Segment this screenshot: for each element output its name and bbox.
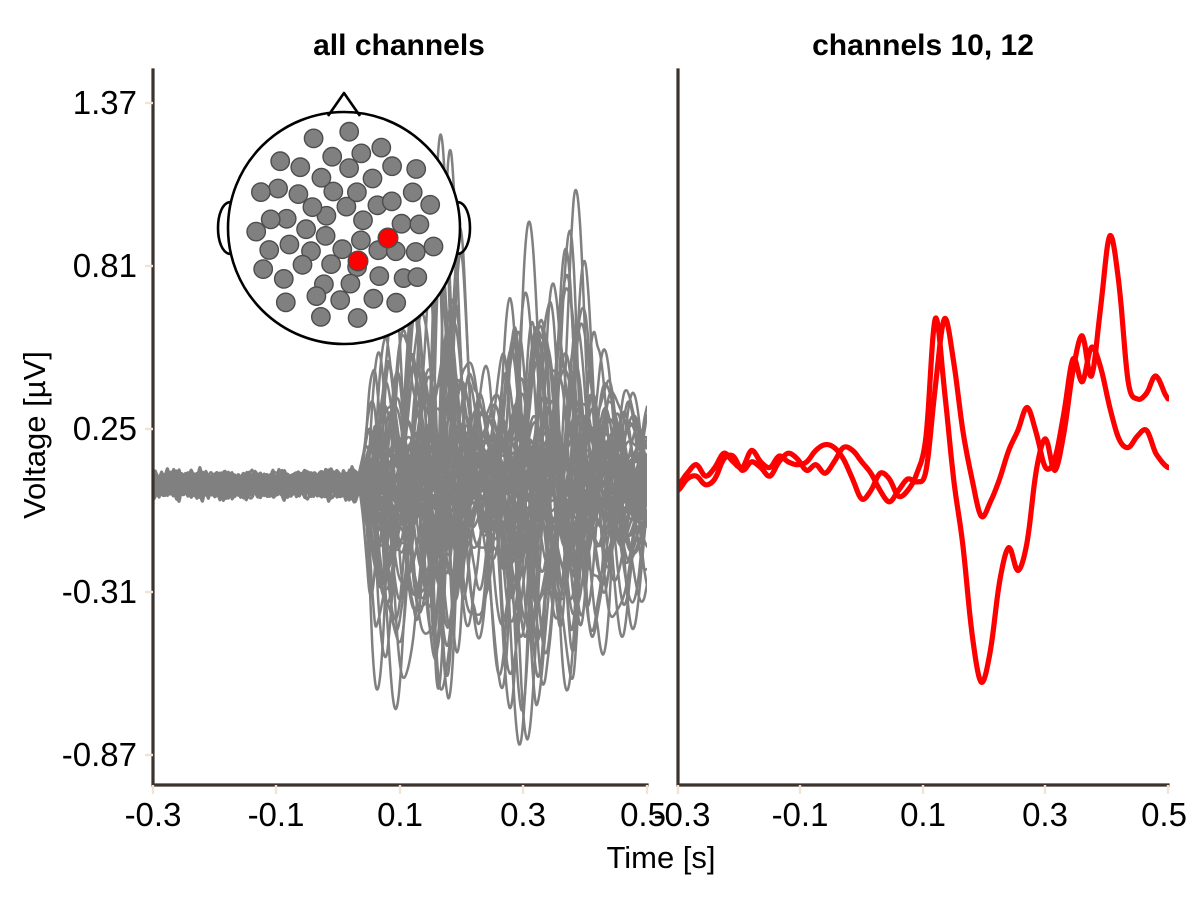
sensor-dot	[363, 169, 381, 187]
sensor-dot	[383, 192, 401, 210]
sensor-dot	[280, 235, 298, 253]
sensor-dot	[407, 160, 425, 178]
figure-canvas: all channels 1.37 0.81 0.25	[0, 0, 1200, 900]
sensor-dot	[275, 270, 293, 288]
sensor-dot	[277, 293, 295, 311]
sensor-dot	[293, 256, 311, 274]
sensor-dot	[316, 227, 334, 245]
sensor-dot	[262, 210, 280, 228]
x2-ticklabel-3: 0.3	[1022, 796, 1068, 833]
panel-all-channels: all channels 1.37 0.81 0.25	[17, 29, 666, 833]
x-ticklabel-3: 0.3	[500, 796, 546, 833]
right-panel-axes-spines	[678, 70, 1168, 785]
x-ticklabel-2: 0.1	[377, 796, 423, 833]
sensor-dot	[404, 183, 422, 201]
x2-ticklabel-4: 0.5	[1141, 796, 1187, 833]
panel-title-all-channels: all channels	[313, 29, 485, 62]
x2-ticklabel-1: -0.1	[772, 796, 829, 833]
sensor-dot	[424, 237, 442, 255]
sensor-dot	[383, 157, 401, 175]
sensor-dot	[372, 138, 390, 156]
y-ticklabel-1: 0.81	[73, 247, 137, 284]
x-ticklabel-0: -0.3	[125, 796, 182, 833]
sensor-dot	[348, 183, 366, 201]
sensor-dot	[387, 294, 405, 312]
sensor-dot	[297, 220, 315, 238]
sensor-dot	[304, 129, 322, 147]
sensor-dot	[340, 123, 358, 141]
sensor-dot	[254, 260, 272, 278]
panel-selected-channels: channels 10, 12 -0.3 -0.1 0.1 0.3 0.5	[654, 29, 1187, 833]
eeg-evoked-figure: all channels 1.37 0.81 0.25	[0, 0, 1200, 900]
sensor-dot	[312, 169, 330, 187]
sensor-dot-highlighted	[348, 251, 368, 271]
y-ticklabel-0: 1.37	[73, 84, 137, 121]
sensor-dot	[271, 152, 289, 170]
sensor-dot	[352, 144, 370, 162]
sensor-dot	[352, 231, 370, 249]
sensor-dot	[370, 267, 388, 285]
sensor-dot	[421, 196, 439, 214]
sensor-dot	[291, 158, 309, 176]
left-panel-y-ticklabels: 1.37 0.81 0.25 -0.31 -0.87	[62, 84, 137, 773]
x-axis-title: Time [s]	[606, 840, 715, 875]
sensor-dot	[307, 287, 325, 305]
sensor-dot	[340, 159, 358, 177]
sensor-dot	[252, 183, 270, 201]
sensor-dot-highlighted	[378, 228, 398, 248]
panel-title-selected-channels: channels 10, 12	[812, 29, 1034, 62]
sensor-dot	[331, 291, 349, 309]
sensor-dot	[323, 148, 341, 166]
y-axis-title: Voltage [µV]	[17, 351, 52, 519]
selected-channels-traces	[678, 235, 1168, 682]
sensor-dot	[247, 222, 265, 240]
sensor-dot	[289, 185, 307, 203]
sensor-dot	[392, 215, 410, 233]
x-ticklabel-1: -0.1	[248, 796, 305, 833]
sensor-dot	[354, 211, 372, 229]
sensor-dot	[408, 268, 426, 286]
selected-channel-trace	[678, 235, 1168, 682]
right-panel-x-ticklabels: -0.3 -0.1 0.1 0.3 0.5	[654, 796, 1187, 833]
sensor-dot	[407, 243, 425, 261]
left-panel-x-ticklabels: -0.3 -0.1 0.1 0.3 0.5	[125, 796, 666, 833]
x2-ticklabel-2: 0.1	[900, 796, 946, 833]
sensor-dot	[322, 255, 340, 273]
sensor-dot	[410, 215, 428, 233]
sensor-dot	[312, 308, 330, 326]
sensor-dot	[364, 290, 382, 308]
y-ticklabel-3: -0.31	[62, 573, 137, 610]
sensor-dot	[341, 274, 359, 292]
y-ticklabel-4: -0.87	[62, 736, 137, 773]
x2-ticklabel-0: -0.3	[654, 796, 711, 833]
y-ticklabel-2: 0.25	[73, 410, 137, 447]
sensor-dot	[348, 309, 366, 327]
sensor-dot	[303, 198, 321, 216]
sensor-dot	[260, 241, 278, 259]
sensor-dot	[269, 179, 287, 197]
